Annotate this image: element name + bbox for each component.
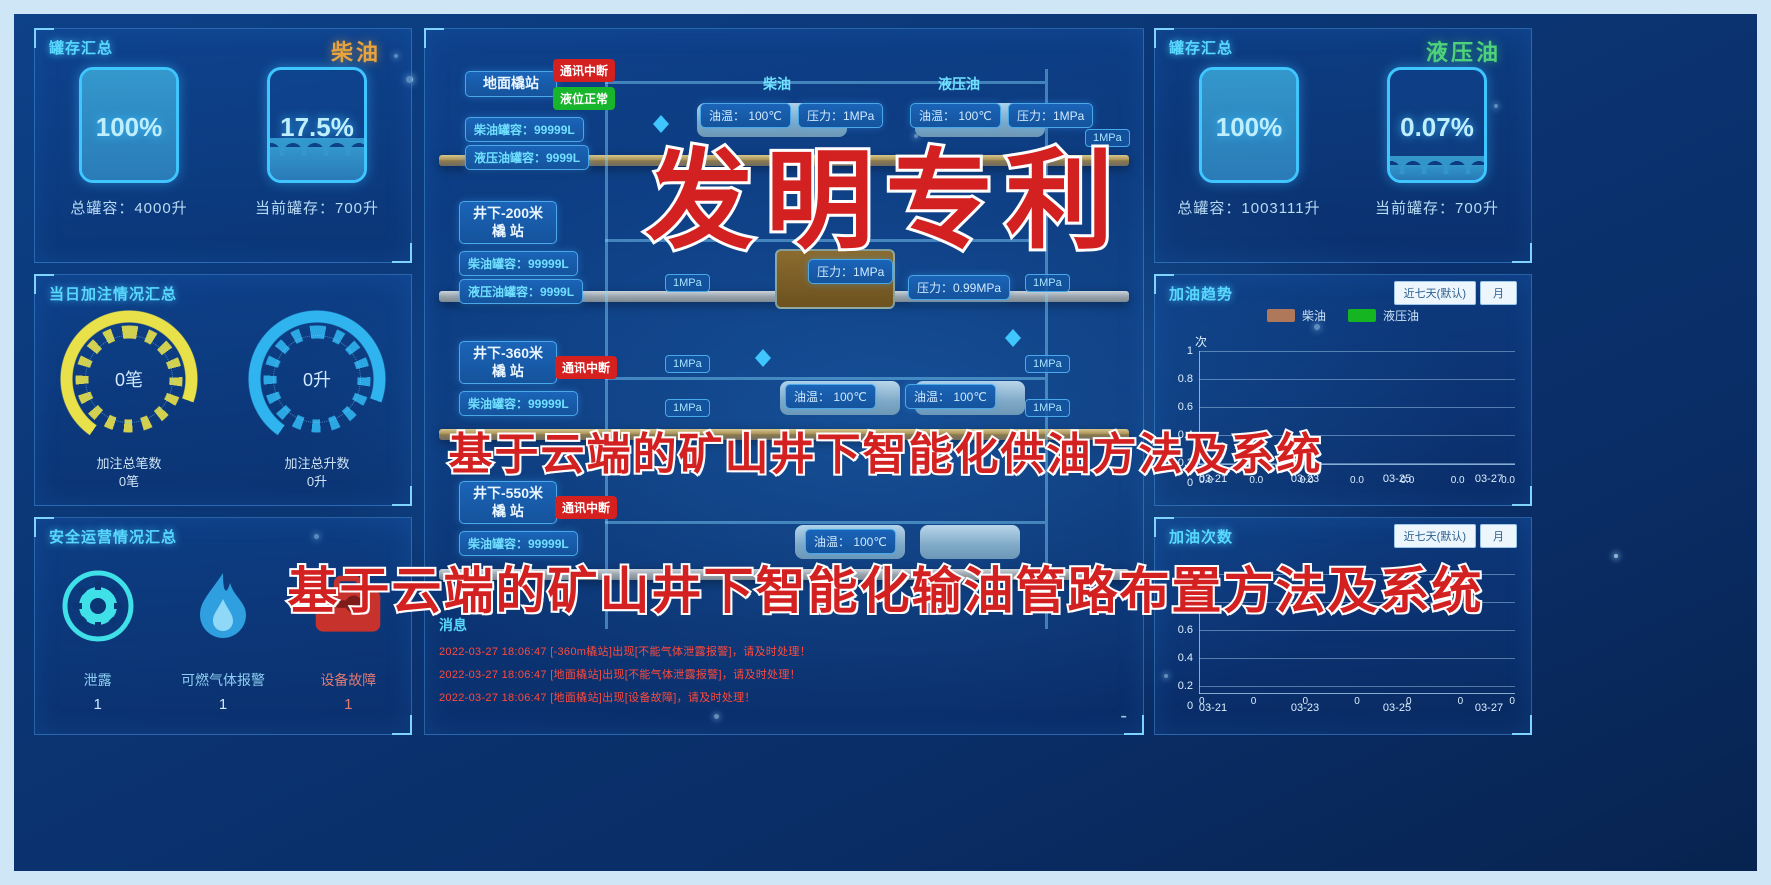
legend-label-hydraulic: 液压油 xyxy=(1383,307,1419,324)
tank-caption: 总罐容：1003111升 xyxy=(1177,197,1320,218)
diagram-product-header-diesel: 柴油 xyxy=(755,71,799,97)
chart-gridline: 0.6 xyxy=(1199,630,1515,631)
tank-gauge-total: 100% xyxy=(79,67,179,183)
donut-gauge-count: 0笔 xyxy=(59,309,199,449)
panel-safety-summary: 安全运营情况汇总 xyxy=(34,517,412,735)
station-label-surface[interactable]: 地面橇站 xyxy=(465,71,557,97)
chart-point-label: 0.0 xyxy=(1451,475,1465,486)
pipe-horizontal-360 xyxy=(605,377,1045,380)
safety-value: 1 xyxy=(219,696,227,713)
product-name-diesel: 柴油 xyxy=(331,35,381,67)
gear-icon xyxy=(60,568,136,644)
donut-gauge-volume: 0升 xyxy=(247,309,387,449)
chart-point-label: 0.0 xyxy=(1501,475,1515,486)
legend-item-hydraulic: 液压油 xyxy=(1348,307,1419,324)
gauge-caption-label: 加注总笔数 xyxy=(96,455,161,473)
panel-hydraulic-tank-summary: 罐存汇总 液压油 100% 总罐容：1003111升 0.07% 当前罐存：70… xyxy=(1154,28,1532,263)
pressure-pill: 1MPa xyxy=(665,399,710,417)
chart-point-label: 0 xyxy=(1509,696,1515,707)
watermark-subtitle-1: 基于云端的矿山井下智能化供油方法及系统 xyxy=(449,418,1323,482)
station-label-200m[interactable]: 井下-200米 橇 站 xyxy=(459,201,557,244)
chart-point-label: 0.0 xyxy=(1350,475,1364,486)
gauge-caption: 加注总笔数 0笔 xyxy=(96,455,161,490)
tank-caption: 当前罐存：700升 xyxy=(1375,197,1499,218)
legend-swatch-diesel xyxy=(1267,309,1295,322)
tank-percent: 17.5% xyxy=(270,112,364,143)
watermark-subtitle-2: 基于云端的矿山井下智能化输油管路布置方法及系统 xyxy=(288,551,1484,623)
chart-point-label: 0 xyxy=(1354,696,1360,707)
chart-y-axis-name: 次 xyxy=(1195,333,1207,350)
panel-title: 加油次数 xyxy=(1169,526,1233,547)
station-label-550m[interactable]: 井下-550米 橇 站 xyxy=(459,481,557,524)
safety-value: 1 xyxy=(344,696,352,713)
pressure-pill: 1MPa xyxy=(665,355,710,373)
tank-row: 100% 总罐容：1003111升 0.07% 当前罐存：700升 xyxy=(1155,67,1531,218)
panel-title: 安全运营情况汇总 xyxy=(49,526,177,547)
zoom-out-icon[interactable]: - xyxy=(1120,705,1127,728)
safety-cell-gas-alarm: 可燃气体报警 1 xyxy=(160,568,285,713)
chart-gridline: 0.4 xyxy=(1199,658,1515,659)
chart-point-label: 0 xyxy=(1458,696,1464,707)
range-button-month[interactable]: 月 xyxy=(1480,281,1517,305)
tank-gauge-total: 100% xyxy=(1199,67,1299,183)
readout-oil-temp: 油温： 100℃ xyxy=(905,384,996,409)
gauge-cell: 0笔 加注总笔数 0笔 xyxy=(35,309,223,490)
chart-y-tick: 0.4 xyxy=(1178,652,1193,664)
chart-point-labels: 0 0 0 0 0 0 0 xyxy=(1199,696,1515,707)
chart-y-tick: 0.6 xyxy=(1178,401,1193,413)
station-label-line1: 井下-550米 橇 站 xyxy=(468,485,548,520)
chart-x-tick: 03-27 xyxy=(1475,702,1503,714)
station-label-line1: 井下-200米 橇 站 xyxy=(468,205,548,240)
gauge-caption-label: 加注总升数 xyxy=(284,455,349,473)
gauge-value: 0笔 xyxy=(59,309,199,449)
tank-cell: 0.07% 当前罐存：700升 xyxy=(1343,67,1531,218)
range-selector[interactable]: 近七天(默认) 月 xyxy=(1394,524,1517,548)
legend-label-diesel: 柴油 xyxy=(1302,307,1326,324)
status-badge-comm-fault: 通讯中断 xyxy=(555,356,617,379)
station-chip-diesel-capacity: 柴油罐容：99999L xyxy=(459,251,578,276)
pressure-pill: 1MPa xyxy=(1025,355,1070,373)
status-badge-comm-fault: 通讯中断 xyxy=(553,59,615,82)
panel-title: 当日加注情况汇总 xyxy=(49,283,177,304)
chart-x-tick: 03-27 xyxy=(1475,473,1503,485)
diagram-product-header-hydraulic: 液压油 xyxy=(930,71,988,97)
station-chip-diesel-capacity: 柴油罐容：99999L xyxy=(459,391,578,416)
legend-item-diesel: 柴油 xyxy=(1267,307,1326,324)
gauge-caption-value: 0升 xyxy=(284,473,349,491)
safety-cell-leak: 泄露 1 xyxy=(35,568,160,713)
status-badge-level-normal: 液位正常 xyxy=(553,87,615,110)
range-selector[interactable]: 近七天(默认) 月 xyxy=(1394,281,1517,305)
tank-cell: 100% 总罐容：4000升 xyxy=(35,67,223,218)
safety-label: 泄露 xyxy=(84,670,112,690)
gauge-caption-value: 0笔 xyxy=(96,473,161,491)
chart-gridline: 0.8 xyxy=(1199,379,1515,380)
safety-label: 可燃气体报警 xyxy=(181,670,265,690)
tank-gauge-current: 0.07% xyxy=(1387,67,1487,183)
tank-percent: 100% xyxy=(82,112,176,143)
tank-gauge-current: 17.5% xyxy=(267,67,367,183)
pressure-pill: 1MPa xyxy=(665,274,710,292)
tank-cell: 100% 总罐容：1003111升 xyxy=(1155,67,1343,218)
legend-swatch-hydraulic xyxy=(1348,309,1376,322)
message-log-line: 2022-03-27 18:06:47 [地面橇站]出现[不能气体泄露报警]，请… xyxy=(439,666,859,682)
chart-point-label: 0 xyxy=(1251,696,1257,707)
chart-gridline: 0.2 xyxy=(1199,686,1515,687)
status-badge-comm-fault: 通讯中断 xyxy=(555,496,617,519)
gauge-caption: 加注总升数 0升 xyxy=(284,455,349,490)
range-button-week[interactable]: 近七天(默认) xyxy=(1394,281,1476,305)
watermark-patent-title: 发明专利 xyxy=(645,114,1125,270)
range-button-month[interactable]: 月 xyxy=(1480,524,1517,548)
station-label-line1: 井下-360米 橇 站 xyxy=(468,345,548,380)
chart-x-tick: 03-25 xyxy=(1383,702,1411,714)
pipe-vertical-main-left xyxy=(605,69,608,629)
station-chip-hydraulic-capacity: 液压油罐容：9999L xyxy=(459,279,583,304)
panel-diesel-tank-summary: 罐存汇总 柴油 100% 总罐容：4000升 17.5% 当前罐存：700升 xyxy=(34,28,412,263)
flame-icon xyxy=(185,568,261,644)
chart-gridline: 1 xyxy=(1199,351,1515,352)
chart-y-tick: 0.8 xyxy=(1178,373,1193,385)
message-log: 消息 2022-03-27 18:06:47 [-360m橇站]出现[不能气体泄… xyxy=(439,615,859,712)
safety-label: 设备故障 xyxy=(320,670,376,690)
panel-title: 罐存汇总 xyxy=(49,37,113,58)
tank-row: 100% 总罐容：4000升 17.5% 当前罐存：700升 xyxy=(35,67,411,218)
tank-caption: 当前罐存：700升 xyxy=(255,197,379,218)
readout-pressure: 压力：0.99MPa xyxy=(908,275,1010,300)
range-button-week[interactable]: 近七天(默认) xyxy=(1394,524,1476,548)
station-chip-diesel-capacity: 柴油罐容：99999L xyxy=(465,117,584,142)
station-label-360m[interactable]: 井下-360米 橇 站 xyxy=(459,341,557,384)
chart-x-tick: 03-23 xyxy=(1291,702,1319,714)
gauge-value: 0升 xyxy=(247,309,387,449)
pipe-horizontal-550 xyxy=(605,521,1045,524)
panel-daily-refuel-summary: 当日加注情况汇总 0笔 加注总笔数 0笔 0升 xyxy=(34,274,412,506)
tank-percent: 0.07% xyxy=(1390,112,1484,143)
gauge-cell: 0升 加注总升数 0升 xyxy=(223,309,411,490)
panel-refuel-count-chart: 加油次数 近七天(默认) 月 1 0.8 0.6 0.4 0.2 0 0 0 0 xyxy=(1154,517,1532,735)
chart-y-tick: 1 xyxy=(1187,345,1193,357)
pressure-pill: 1MPa xyxy=(1025,399,1070,417)
product-name-hydraulic: 液压油 xyxy=(1426,35,1501,67)
chart-y-tick: 0.6 xyxy=(1178,624,1193,636)
chart-y-tick: 0.2 xyxy=(1178,680,1193,692)
chart-legend: 柴油 液压油 xyxy=(1267,307,1419,324)
chart-x-tick: 03-25 xyxy=(1383,473,1411,485)
dashboard-canvas: 罐存汇总 柴油 100% 总罐容：4000升 17.5% 当前罐存：700升 当… xyxy=(14,14,1757,871)
pressure-pill: 1MPa xyxy=(1025,274,1070,292)
chart-y-tick-zero: 0 xyxy=(1187,700,1193,712)
tank-percent: 100% xyxy=(1202,112,1296,143)
tank-caption: 总罐容：4000升 xyxy=(70,197,187,218)
station-chip-hydraulic-capacity: 液压油罐容：9999L xyxy=(465,145,589,170)
panel-title: 加油趋势 xyxy=(1169,283,1233,304)
chart-x-tick: 03-21 xyxy=(1199,702,1227,714)
panel-title: 罐存汇总 xyxy=(1169,37,1233,58)
message-log-line: 2022-03-27 18:06:47 [-360m橇站]出现[不能气体泄露报警… xyxy=(439,643,859,659)
dashboard-screenshot: 罐存汇总 柴油 100% 总罐容：4000升 17.5% 当前罐存：700升 当… xyxy=(0,0,1771,885)
chart-gridline: 0.6 xyxy=(1199,407,1515,408)
tank-cell: 17.5% 当前罐存：700升 xyxy=(223,67,411,218)
safety-value: 1 xyxy=(93,696,101,713)
message-log-line: 2022-03-27 18:06:47 [地面橇站]出现[设备故障]，请及时处理… xyxy=(439,689,859,705)
chart-x-axis xyxy=(1199,693,1515,694)
readout-oil-temp: 油温： 100℃ xyxy=(785,384,876,409)
gauge-row: 0笔 加注总笔数 0笔 0升 加注总升数 0升 xyxy=(35,309,411,490)
